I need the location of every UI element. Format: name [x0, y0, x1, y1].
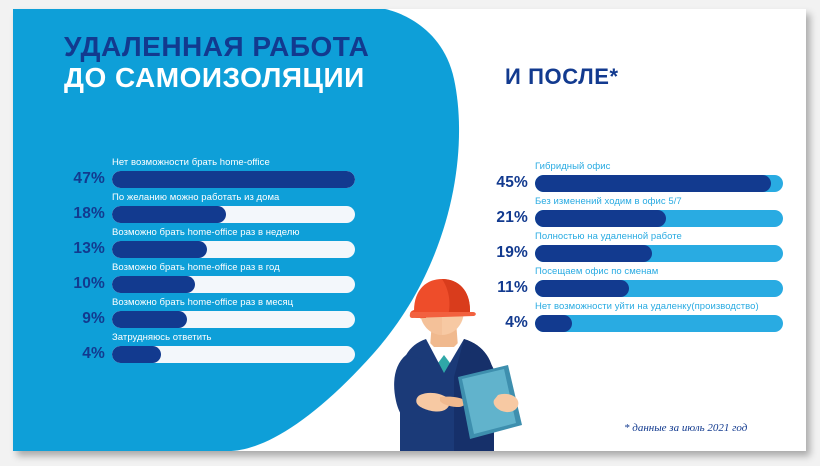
chart-row: Гибридный офис45% — [483, 161, 783, 196]
bar-track — [535, 245, 783, 262]
bar-category-label: Посещаем офис по сменам — [535, 266, 658, 277]
bar-track — [112, 276, 355, 293]
title-right: И ПОСЛЕ* — [505, 64, 619, 90]
bar-category-label: Возможно брать home-office раз в год — [112, 262, 280, 273]
bar-value-label: 13% — [60, 240, 105, 258]
bar-fill — [535, 245, 652, 262]
infographic-stage: УДАЛЕННАЯ РАБОТА ДО САМОИЗОЛЯЦИИ И ПОСЛЕ… — [0, 0, 820, 466]
chart-row: Затрудняюсь ответить4% — [60, 332, 355, 367]
bar-value-label: 18% — [60, 205, 105, 223]
bar-category-label: Гибридный офис — [535, 161, 610, 172]
chart-row: Нет возможности брать home-office47% — [60, 157, 355, 192]
bar-fill — [112, 241, 207, 258]
title-left-line2: ДО САМОИЗОЛЯЦИИ — [64, 64, 369, 93]
bar-category-label: Нет возможности брать home-office — [112, 157, 270, 168]
bar-category-label: По желанию можно работать из дома — [112, 192, 279, 203]
bar-value-label: 45% — [483, 174, 528, 192]
bar-fill — [535, 175, 771, 192]
chart-row: Возможно брать home-office раз в неделю1… — [60, 227, 355, 262]
bar-value-label: 47% — [60, 170, 105, 188]
chart-row: Полностью на удаленной работе19% — [483, 231, 783, 266]
bar-value-label: 9% — [60, 310, 105, 328]
chart-row: Возможно брать home-office раз в год10% — [60, 262, 355, 297]
bar-track — [535, 210, 783, 227]
bar-track — [112, 311, 355, 328]
bar-fill — [535, 210, 666, 227]
businessman-illustration — [370, 277, 560, 451]
bar-value-label: 19% — [483, 244, 528, 262]
bar-fill — [112, 346, 161, 363]
bar-track — [112, 171, 355, 188]
bar-value-label: 21% — [483, 209, 528, 227]
bar-fill — [112, 276, 195, 293]
chart-before-isolation: Нет возможности брать home-office47%По ж… — [60, 157, 355, 367]
bar-track — [112, 346, 355, 363]
title-left-line1: УДАЛЕННАЯ РАБОТА — [64, 33, 369, 62]
footnote-data-period: * данные за июль 2021 год — [624, 422, 747, 434]
chart-row: По желанию можно работать из дома18% — [60, 192, 355, 227]
bar-category-label: Нет возможности уйти на удаленку(произво… — [535, 301, 759, 312]
chart-row: Возможно брать home-office раз в месяц9% — [60, 297, 355, 332]
chart-row: Без изменений ходим в офис 5/721% — [483, 196, 783, 231]
bar-fill — [112, 171, 355, 188]
bar-category-label: Без изменений ходим в офис 5/7 — [535, 196, 682, 207]
bar-track — [112, 206, 355, 223]
bar-category-label: Возможно брать home-office раз в неделю — [112, 227, 300, 238]
bar-track — [535, 280, 783, 297]
bar-category-label: Полностью на удаленной работе — [535, 231, 682, 242]
bar-value-label: 4% — [60, 345, 105, 363]
bar-value-label: 10% — [60, 275, 105, 293]
bar-track — [112, 241, 355, 258]
bar-fill — [112, 311, 187, 328]
bar-track — [535, 175, 783, 192]
bar-fill — [112, 206, 226, 223]
bar-category-label: Возможно брать home-office раз в месяц — [112, 297, 293, 308]
bar-category-label: Затрудняюсь ответить — [112, 332, 211, 343]
title-left: УДАЛЕННАЯ РАБОТА ДО САМОИЗОЛЯЦИИ — [64, 33, 369, 92]
bar-track — [535, 315, 783, 332]
infographic-card: УДАЛЕННАЯ РАБОТА ДО САМОИЗОЛЯЦИИ И ПОСЛЕ… — [13, 9, 806, 451]
